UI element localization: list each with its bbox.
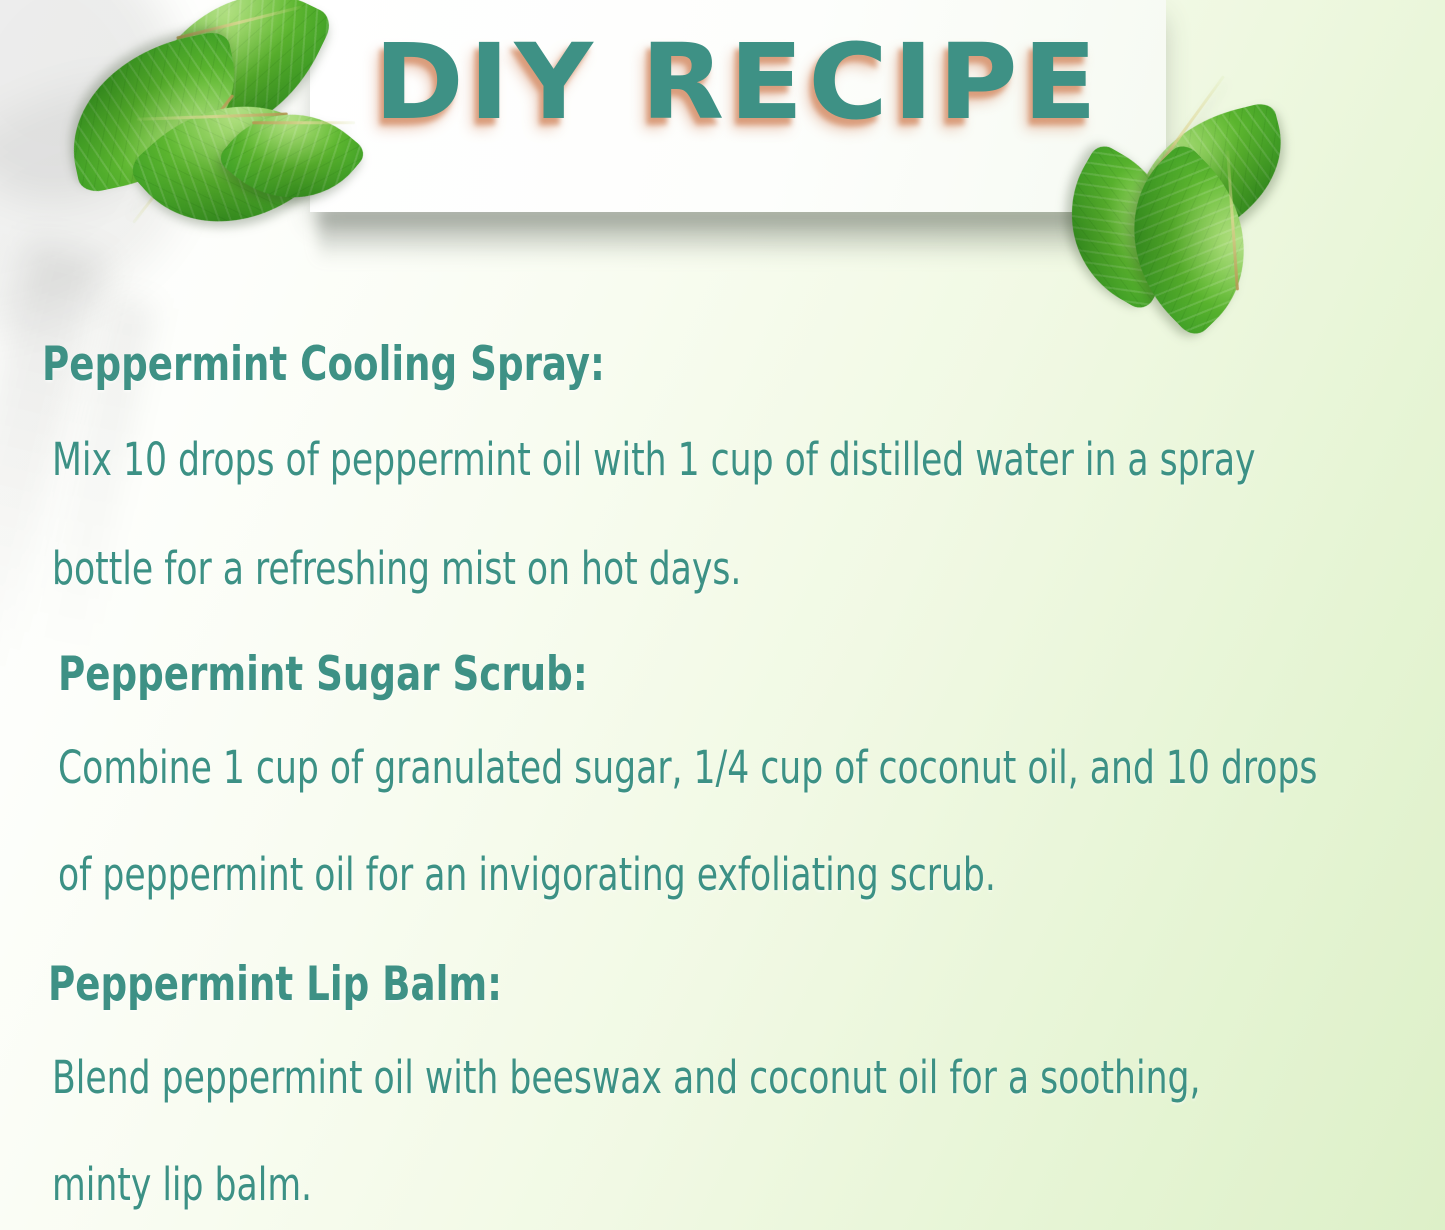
- page-title: DIY RECIPE: [293, 26, 1183, 138]
- diy-recipe-poster: DIY RECIPE Peppermint Cooling Spray:: [0, 0, 1445, 1230]
- recipe-body-line: Blend peppermint oil with beeswax and co…: [52, 1034, 1243, 1121]
- recipe-section: Peppermint Cooling Spray: Mix 10 drops o…: [0, 336, 1445, 612]
- mint-leaf-icon: [54, 29, 254, 195]
- recipe-list: Peppermint Cooling Spray: Mix 10 drops o…: [0, 336, 1445, 1228]
- recipe-section: Peppermint Sugar Scrub: Combine 1 cup of…: [0, 646, 1445, 918]
- recipe-body-line: of peppermint oil for an invigorating ex…: [58, 831, 1244, 918]
- recipe-body-line: minty lip balm.: [52, 1141, 1243, 1228]
- recipe-body-line: Combine 1 cup of granulated sugar, 1/4 c…: [58, 724, 1244, 811]
- recipe-section: Peppermint Lip Balm: Blend peppermint oi…: [0, 956, 1445, 1228]
- recipe-body-line: bottle for a refreshing mist on hot days…: [52, 525, 1243, 612]
- foliage-shadow-icon: [0, 0, 214, 232]
- banner-drop-shadow: [318, 210, 1168, 262]
- recipe-heading: Peppermint Sugar Scrub:: [58, 646, 1279, 704]
- recipe-heading: Peppermint Cooling Spray:: [42, 336, 1277, 394]
- recipe-heading: Peppermint Lip Balm:: [48, 956, 1277, 1014]
- recipe-body-line: Mix 10 drops of peppermint oil with 1 cu…: [52, 416, 1243, 503]
- foliage-shadow-icon: [0, 41, 238, 379]
